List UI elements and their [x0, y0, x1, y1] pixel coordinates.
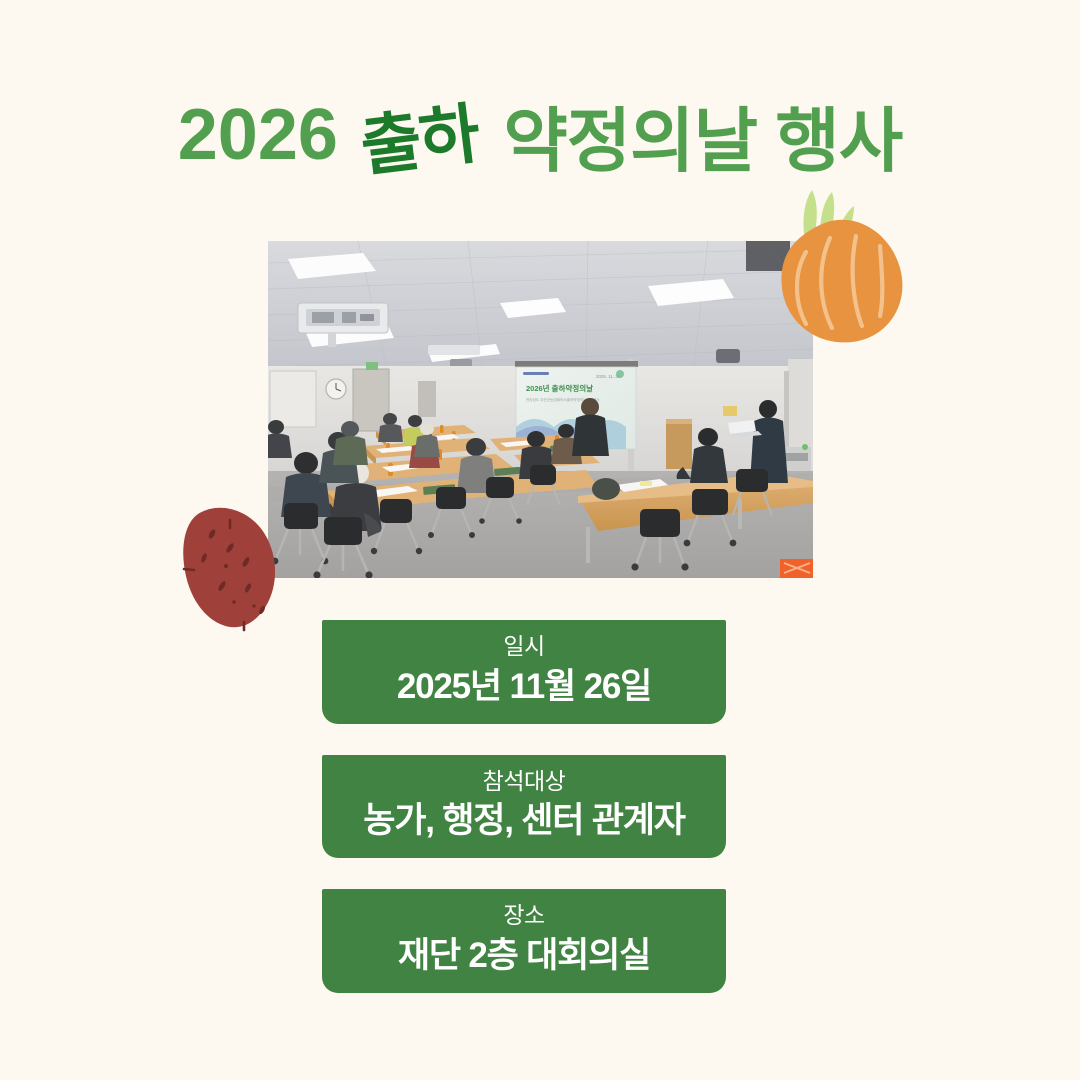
info-card-attendees: 참석대상 농가, 행정, 센터 관계자 [322, 755, 726, 859]
info-card-location-label: 장소 [332, 901, 716, 930]
onion-illustration [762, 186, 927, 356]
info-card-location-value: 재단 2층 대회의실 [332, 934, 716, 979]
info-card-datetime-value: 2025년 11월 26일 [332, 665, 716, 710]
page-title: 2026 출하 약정의날 행사 [0, 92, 1080, 178]
title-year: 2026 [178, 94, 338, 176]
event-info-cards: 일시 2025년 11월 26일 참석대상 농가, 행정, 센터 관계자 장소 … [322, 620, 726, 993]
title-accent-word: 출하 [355, 80, 483, 190]
info-card-datetime-label: 일시 [332, 632, 716, 661]
svg-text:2026년 출하약정의날: 2026년 출하약정의날 [526, 383, 593, 393]
info-card-attendees-value: 농가, 행정, 센터 관계자 [332, 799, 716, 844]
info-card-attendees-label: 참석대상 [332, 767, 716, 796]
event-photo-image: 2026년 출하약정의날 전라남도 무안군농업회의소출하약정의날기념행사 202… [268, 241, 813, 578]
info-card-datetime: 일시 2025년 11월 26일 [322, 620, 726, 724]
sweet-potato-illustration [168, 492, 293, 632]
info-card-location: 장소 재단 2층 대회의실 [322, 889, 726, 993]
title-rest: 약정의날 행사 [503, 85, 902, 186]
event-poster: 2026 출하 약정의날 행사 [0, 0, 1080, 1080]
event-photo: 2026년 출하약정의날 전라남도 무안군농업회의소출하약정의날기념행사 202… [268, 241, 813, 578]
